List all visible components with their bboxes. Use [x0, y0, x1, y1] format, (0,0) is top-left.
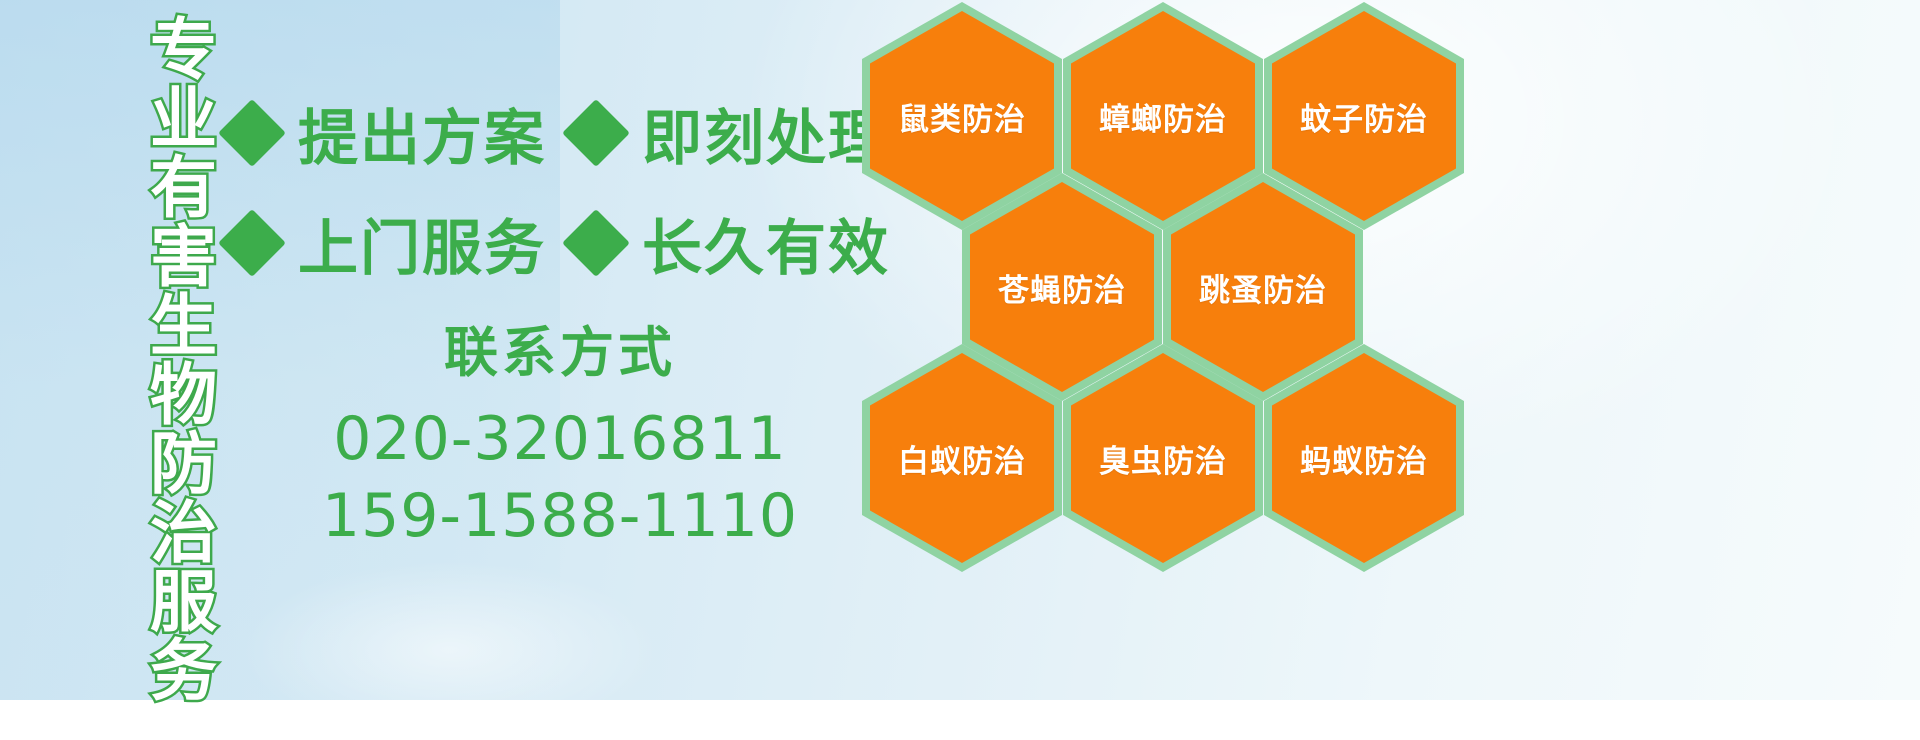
- hex-inner: 蟑螂防治: [1071, 11, 1255, 221]
- hex-label: 白蚁防治: [898, 436, 1026, 481]
- feature-list: 提出方案 即刻处理 上门服务 长久有效: [228, 78, 878, 298]
- hex-inner: 苍蝇防治: [970, 182, 1154, 392]
- hex-label: 蚊子防治: [1300, 94, 1428, 139]
- hex-label: 鼠类防治: [898, 94, 1026, 139]
- hex-inner: 蚊子防治: [1272, 11, 1456, 221]
- hex-inner: 蚂蚁防治: [1272, 353, 1456, 563]
- diamond-bullet-icon: [218, 209, 286, 277]
- contact-phone-landline[interactable]: 020-32016811: [300, 401, 820, 478]
- feature-item-1: 提出方案: [228, 90, 572, 177]
- hex-inner: 白蚁防治: [870, 353, 1054, 563]
- hex-label: 跳蚤防治: [1199, 265, 1327, 310]
- diamond-bullet-icon: [218, 99, 286, 167]
- contact-title: 联系方式: [300, 308, 820, 387]
- feature-label: 提出方案: [298, 90, 546, 177]
- service-honeycomb: 鼠类防治 蟑螂防治 蚊子防治 苍蝇防治 跳蚤防治 白蚁防治: [862, 0, 1462, 706]
- hex-label: 臭虫防治: [1099, 436, 1227, 481]
- feature-item-3: 上门服务: [228, 200, 572, 287]
- hex-label: 苍蝇防治: [998, 265, 1126, 310]
- feature-label: 上门服务: [298, 200, 546, 287]
- diamond-bullet-icon: [562, 99, 630, 167]
- feature-row: 上门服务 长久有效: [228, 188, 878, 298]
- feature-label: 长久有效: [642, 200, 890, 287]
- contact-block: 联系方式 020-32016811 159-1588-1110: [300, 308, 820, 555]
- hex-inner: 臭虫防治: [1071, 353, 1255, 563]
- diamond-bullet-icon: [562, 209, 630, 277]
- feature-label: 即刻处理: [642, 90, 890, 177]
- hex-label: 蟑螂防治: [1099, 94, 1227, 139]
- hex-inner: 跳蚤防治: [1171, 182, 1355, 392]
- promo-banner: 专业有害生物防治服务 提出方案 即刻处理 上门服务 长久有效 联系方式: [0, 0, 1920, 700]
- hex-inner: 鼠类防治: [870, 11, 1054, 221]
- vertical-title: 专业有害生物防治服务: [108, 14, 212, 686]
- feature-row: 提出方案 即刻处理: [228, 78, 878, 188]
- contact-phone-mobile[interactable]: 159-1588-1110: [300, 478, 820, 555]
- hex-label: 蚂蚁防治: [1300, 436, 1428, 481]
